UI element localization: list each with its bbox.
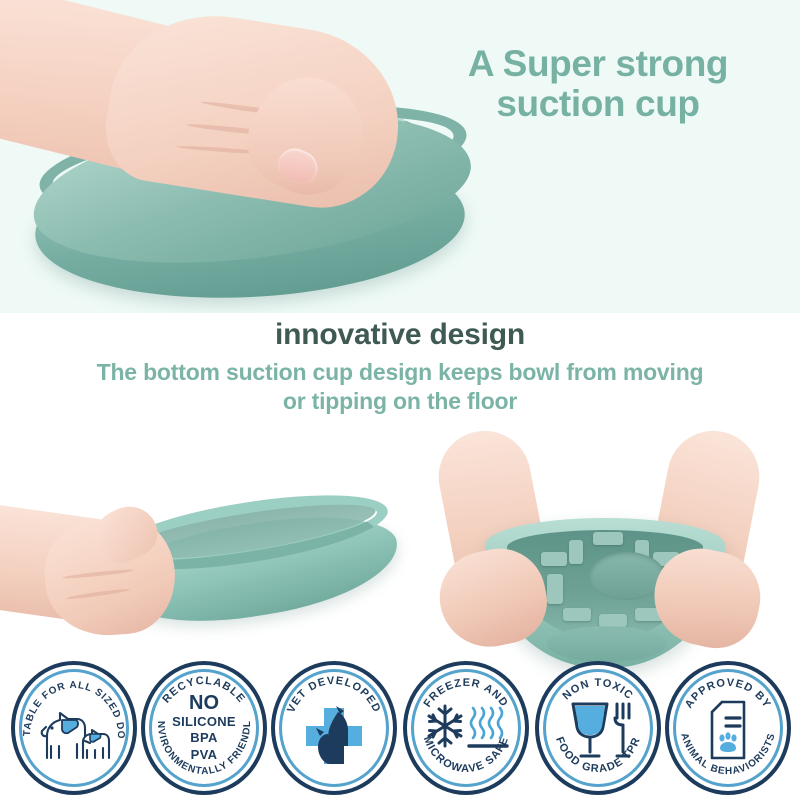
top-hero-panel: A Super strong suction cup [0,0,800,313]
glass-fork-icon [532,658,664,798]
subtitle-line-1: The bottom suction cup design keeps bowl… [0,358,800,387]
suction-cup-base [547,626,667,662]
section-subtitle: The bottom suction cup design keeps bowl… [0,358,800,416]
certificate-paw-icon [662,658,794,798]
photo-hand-holding-bowl-side [0,440,400,650]
badge-center-text: NO SILICONE BPA PVA [138,658,270,798]
badge-center-line-2: SILICONE [172,714,236,731]
badge-freezer-and-microwave-safe[interactable]: FREEZER AND MICROWAVE SAFE [400,658,532,798]
badge-center-line-1: NO [189,693,219,714]
lower-photo-row [0,420,800,660]
hero-photo-hand-pressing-bowl [0,0,490,313]
two-dogs-icon [8,658,140,798]
hero-headline: A Super strong suction cup [418,44,778,124]
badge-recyclable-no-silicone[interactable]: RECYCLABLE ENVIRONMENTALLY FRIENDLY NO S… [138,658,270,798]
section-title: innovative design [0,318,800,352]
maze-ridge [541,552,567,566]
badge-center-line-4: PVA [191,747,218,764]
maze-ridge [569,540,583,564]
badge-center-line-3: BPA [190,730,217,747]
badge-non-toxic-food-grade-tpr[interactable]: NON TOXIC FOOD GRADE TPR [532,658,664,798]
snowflake-heatwaves-icon [400,658,532,798]
certification-badge-row: SUITABLE FOR ALL SIZED DOGS [0,658,800,800]
middle-text-block: innovative design The bottom suction cup… [0,318,800,416]
subtitle-line-2: or tipping on the floor [0,387,800,416]
maze-ridge [593,532,623,545]
photo-two-hands-bending-bowl [400,420,800,660]
maze-ridge [563,608,591,621]
badge-vet-developed[interactable]: VET DEVELOPED [268,658,400,798]
badge-suitable-for-all-sized-dogs[interactable]: SUITABLE FOR ALL SIZED DOGS [8,658,140,798]
badge-approved-by-animal-behaviorists[interactable]: APPROVED BY ANIMAL BEHAVIORISTS [662,658,794,798]
product-infographic-page: A Super strong suction cup innovative de… [0,0,800,800]
maze-ridge [547,574,563,604]
headline-line-2: suction cup [418,84,778,124]
headline-line-1: A Super strong [418,44,778,84]
medical-cross-pets-icon [268,658,400,798]
